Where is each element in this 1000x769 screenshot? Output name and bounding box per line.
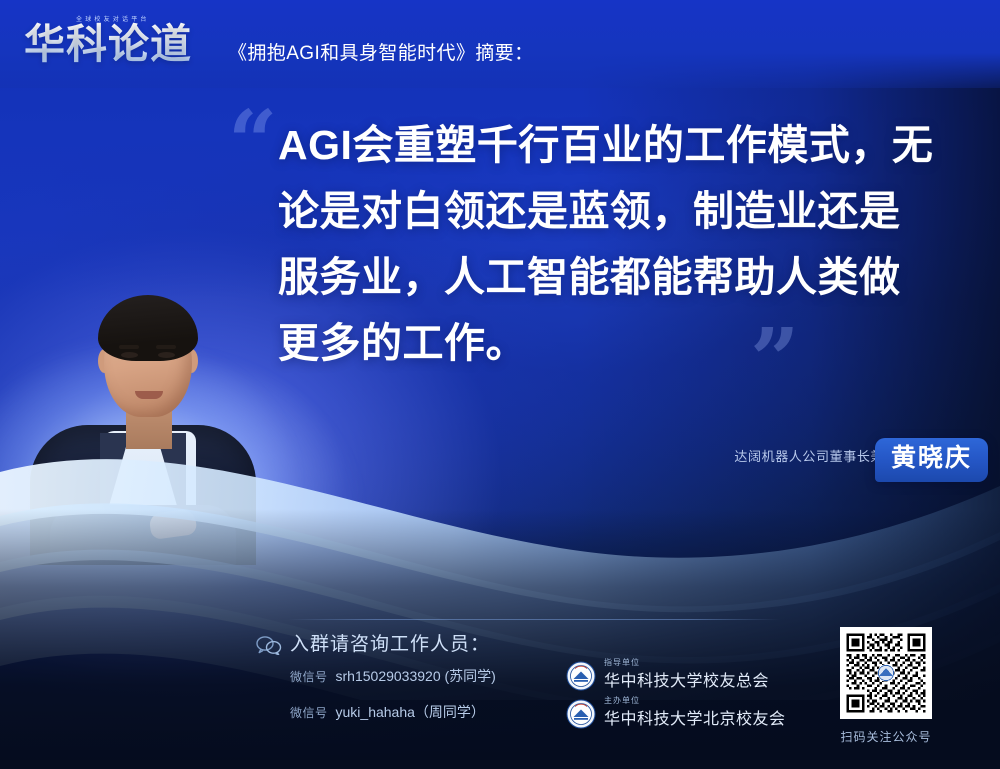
university-seal-icon	[566, 661, 596, 691]
brand-logo: 全球校友对话平台 华科论道	[24, 12, 222, 72]
footer: 入群请咨询工作人员： 微信号srh15029033920 (苏同学) 微信号yu…	[0, 619, 1000, 769]
wechat-contact-row: 微信号yuki_hahaha（周同学）	[290, 702, 485, 722]
portrait-eyebrow-left	[119, 345, 139, 349]
qr-block: 扫码关注公众号	[840, 627, 932, 745]
poster-canvas: 全球校友对话平台 华科论道 《拥抱AGI和具身智能时代》摘要： “ AGI会重塑…	[0, 0, 1000, 769]
speaker-name-badge: 黄晓庆	[875, 438, 988, 482]
quote-open-mark: “	[228, 100, 277, 186]
portrait-eyebrow-right	[156, 345, 176, 349]
qr-caption: 扫码关注公众号	[840, 728, 932, 745]
university-seal-icon	[566, 699, 596, 729]
join-group-title: 入群请咨询工作人员：	[290, 629, 490, 656]
organization-name: 华中科技大学北京校友会	[604, 705, 786, 729]
quote-close-mark: ”	[750, 318, 799, 404]
wechat-contact-row: 微信号srh15029033920 (苏同学)	[290, 666, 496, 686]
wechat-id: yuki_hahaha（周同学）	[336, 704, 485, 720]
wechat-label: 微信号	[290, 706, 328, 720]
wechat-icon	[256, 635, 282, 655]
header-bar: 全球校友对话平台 华科论道 《拥抱AGI和具身智能时代》摘要：	[0, 0, 1000, 88]
qr-code-image[interactable]	[840, 627, 932, 719]
portrait-hair	[98, 295, 198, 361]
quote-text: AGI会重塑千行百业的工作模式，无论是对白领还是蓝领，制造业还是服务业，人工智能…	[278, 112, 938, 376]
portrait-eye-right	[158, 352, 175, 358]
wechat-id: srh15029033920 (苏同学)	[336, 668, 496, 684]
footer-divider	[288, 619, 780, 620]
portrait-eye-left	[121, 352, 138, 358]
portrait-mouth	[135, 391, 163, 399]
organization-name: 华中科技大学校友总会	[604, 667, 769, 691]
page-title: 《拥抱AGI和具身智能时代》摘要：	[228, 38, 534, 65]
brand-wordmark: 华科论道	[24, 20, 192, 68]
wechat-label: 微信号	[290, 670, 328, 684]
